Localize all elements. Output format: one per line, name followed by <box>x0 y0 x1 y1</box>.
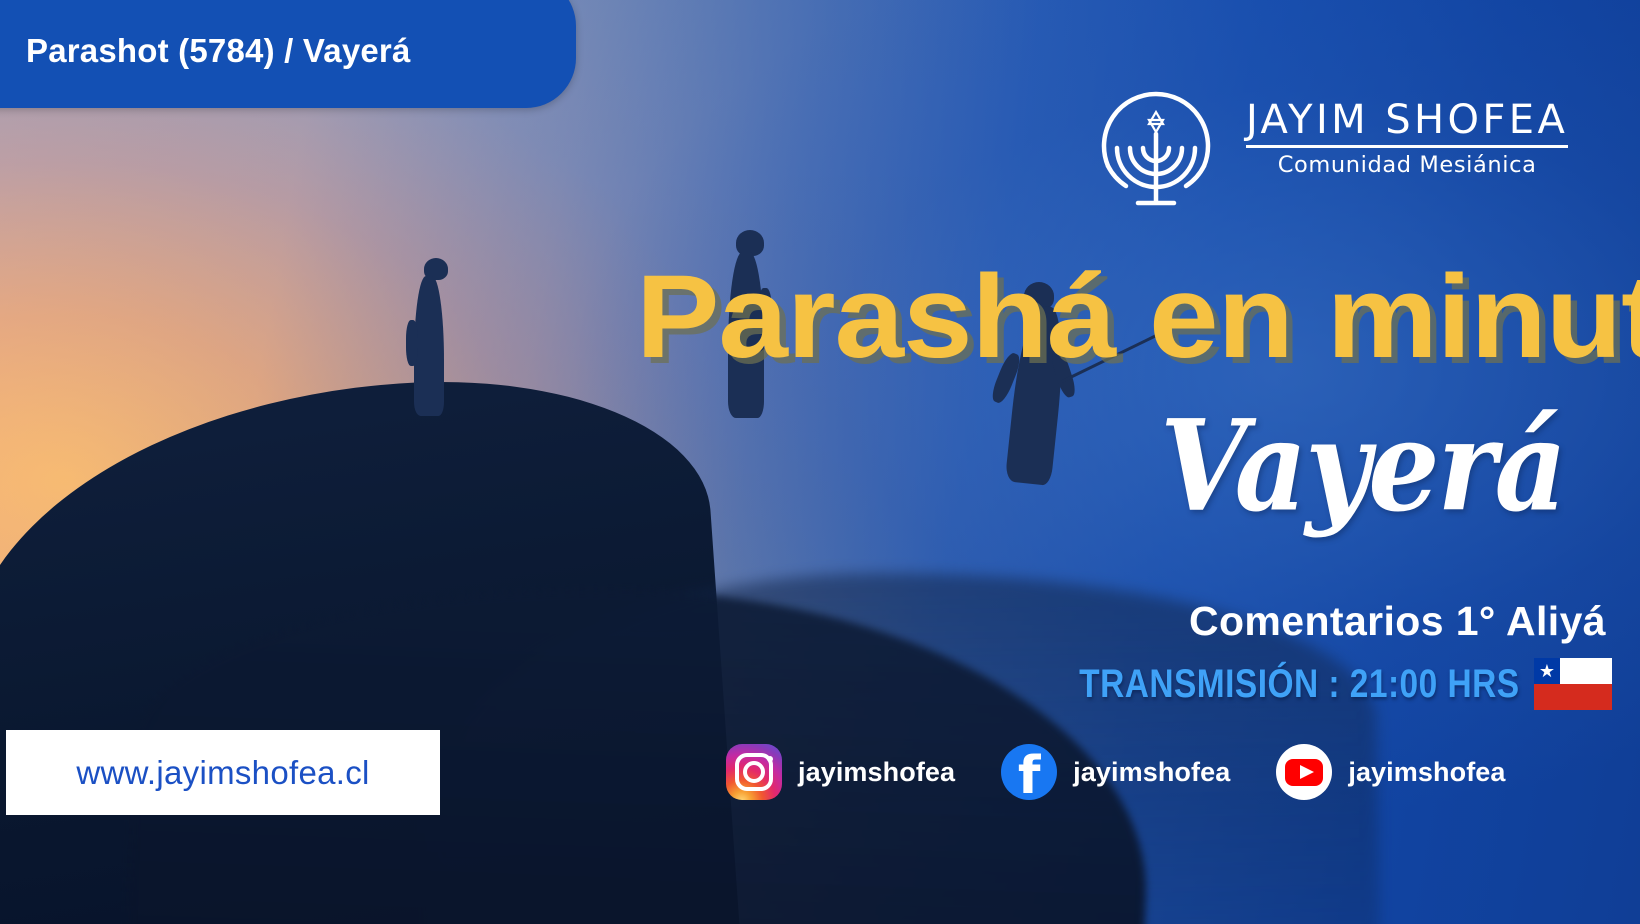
website-badge[interactable]: www.jayimshofea.cl <box>6 730 440 815</box>
page-title: Parashá en minutos <box>636 258 1640 376</box>
brand-name: JAYIM SHOFEA <box>1246 100 1568 140</box>
brand-tagline: Comunidad Mesiánica <box>1246 152 1568 178</box>
instagram-icon <box>726 744 782 800</box>
parashot-banner-label: Parashot (5784) / Vayerá <box>26 32 411 70</box>
menorah-circle-star-of-david-icon <box>1082 62 1230 210</box>
youtube-handle: jayimshofea <box>1348 757 1505 788</box>
parasha-name-title: Vayerá <box>1160 404 1565 529</box>
social-links-row: jayimshofea f jayimshofea jayimshofea <box>726 744 1506 800</box>
social-link-youtube[interactable]: jayimshofea <box>1276 744 1505 800</box>
facebook-handle: jayimshofea <box>1073 757 1230 788</box>
chile-flag-star-icon: ★ <box>1538 662 1556 680</box>
poster-canvas: Parashot (5784) / Vayerá <box>0 0 1640 924</box>
chile-flag-icon: ★ <box>1534 658 1612 710</box>
social-link-facebook[interactable]: f jayimshofea <box>1001 744 1230 800</box>
youtube-icon <box>1276 744 1332 800</box>
parashot-banner[interactable]: Parashot (5784) / Vayerá <box>0 0 576 108</box>
facebook-icon: f <box>1001 744 1057 800</box>
brand-logo[interactable]: JAYIM SHOFEA Comunidad Mesiánica <box>1082 62 1568 210</box>
hero-subtitle: Comentarios 1° Aliyá <box>1189 598 1606 645</box>
social-link-instagram[interactable]: jayimshofea <box>726 744 955 800</box>
website-url: www.jayimshofea.cl <box>76 754 369 792</box>
broadcast-time-label: TRANSMISIÓN : 21:00 HRS <box>1080 661 1520 707</box>
walking-figure-1 <box>400 258 460 418</box>
brand-divider <box>1246 145 1568 148</box>
brand-logo-text: JAYIM SHOFEA Comunidad Mesiánica <box>1246 94 1568 178</box>
broadcast-time-row: TRANSMISIÓN : 21:00 HRS ★ <box>1046 658 1612 710</box>
instagram-handle: jayimshofea <box>798 757 955 788</box>
